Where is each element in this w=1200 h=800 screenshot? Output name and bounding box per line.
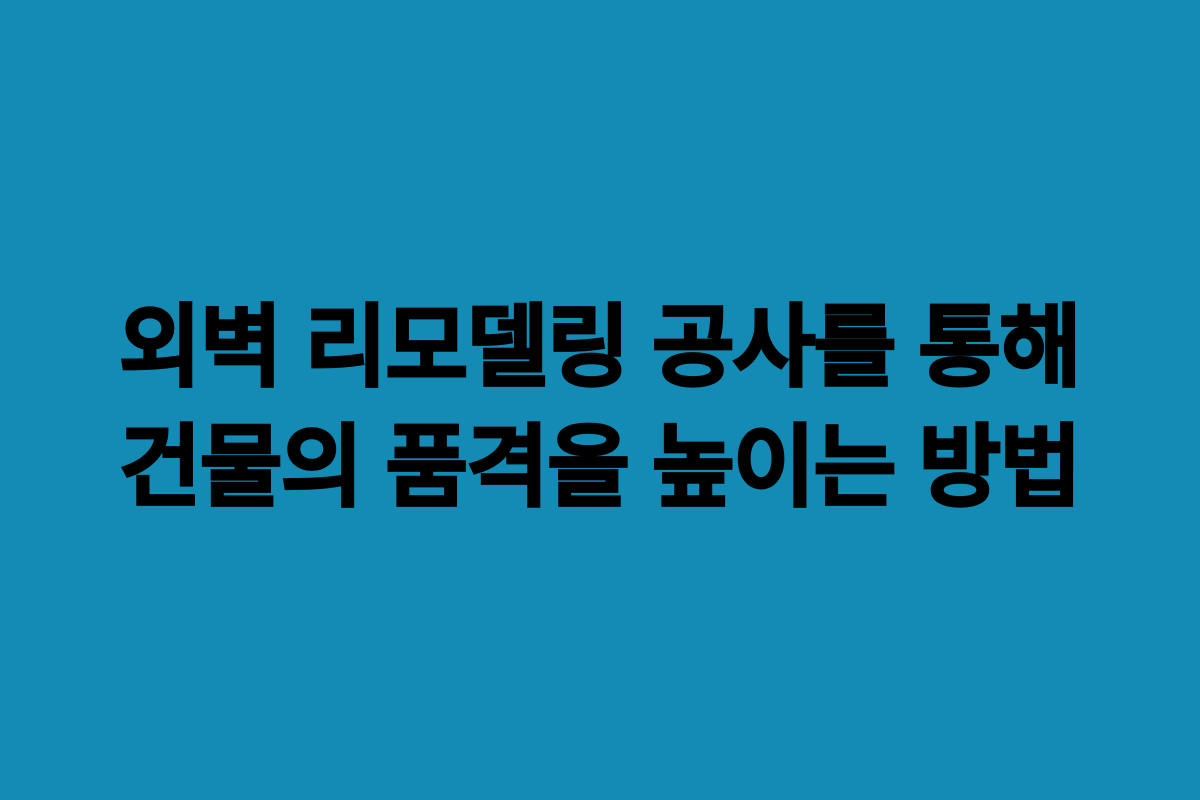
- banner-canvas: 외벽 리모델링 공사를 통해 건물의 품격을 높이는 방법: [0, 0, 1200, 800]
- headline-block: 외벽 리모델링 공사를 통해 건물의 품격을 높이는 방법: [0, 287, 1200, 527]
- headline-line-1: 외벽 리모델링 공사를 통해: [0, 287, 1200, 407]
- headline-line-2: 건물의 품격을 높이는 방법: [0, 407, 1200, 527]
